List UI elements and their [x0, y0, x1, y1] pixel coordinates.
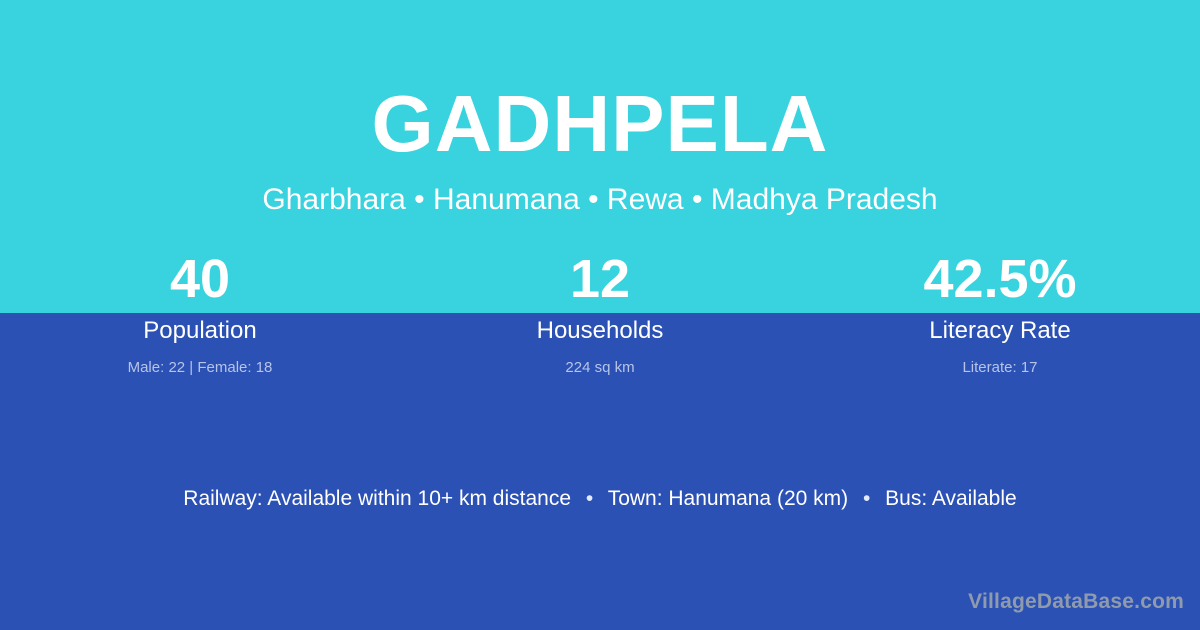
stat-population: 40 Population Male: 22 | Female: 18	[0, 245, 400, 379]
amenity-town: Town: Hanumana (20 km)	[608, 487, 848, 510]
amenity-separator-2: •	[854, 487, 879, 510]
amenity-railway: Railway: Available within 10+ km distanc…	[183, 487, 571, 510]
village-info-card: GADHPELA Gharbhara • Hanumana • Rewa • M…	[0, 0, 1200, 630]
breadcrumb: Gharbhara • Hanumana • Rewa • Madhya Pra…	[0, 180, 1200, 220]
stats-row: 40 Population Male: 22 | Female: 18 12 H…	[0, 245, 1200, 379]
stat-population-sub: Male: 22 | Female: 18	[0, 357, 400, 379]
stat-households-label: Households	[400, 315, 800, 347]
stat-literacy-rate-value: 42.5%	[800, 245, 1200, 313]
stat-literacy-rate-label: Literacy Rate	[800, 315, 1200, 347]
stat-literacy-rate: 42.5% Literacy Rate Literate: 17	[800, 245, 1200, 379]
page-title: GADHPELA	[0, 76, 1200, 172]
amenity-separator-1: •	[577, 487, 602, 510]
stat-population-label: Population	[0, 315, 400, 347]
site-brand-watermark: VillageDataBase.com	[968, 588, 1184, 616]
stat-literacy-rate-sub: Literate: 17	[800, 357, 1200, 379]
amenity-bus: Bus: Available	[885, 487, 1017, 510]
amenities-line: Railway: Available within 10+ km distanc…	[0, 484, 1200, 514]
stat-population-value: 40	[0, 245, 400, 313]
stat-households-sub: 224 sq km	[400, 357, 800, 379]
stat-households-value: 12	[400, 245, 800, 313]
stat-households: 12 Households 224 sq km	[400, 245, 800, 379]
